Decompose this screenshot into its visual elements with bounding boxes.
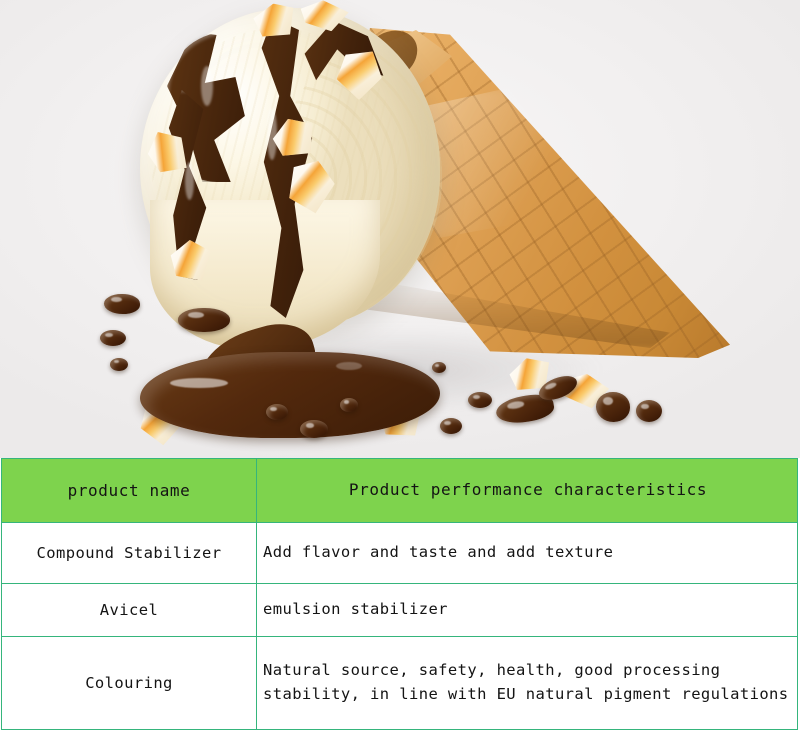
table-body: Compound Stabilizer Add flavor and taste… (2, 523, 798, 730)
table-row: Colouring Natural source, safety, health… (2, 637, 798, 730)
table-head: product name Product performance charact… (2, 459, 798, 523)
table-row: Compound Stabilizer Add flavor and taste… (2, 523, 798, 584)
chocolate-puddle (140, 352, 440, 438)
page-root: product name Product performance charact… (0, 0, 800, 737)
cell-product-name: Colouring (2, 637, 257, 730)
cell-characteristics: Add flavor and taste and add texture (257, 523, 798, 584)
puddle-highlight (336, 362, 362, 370)
chocolate-droplet (110, 358, 128, 371)
specification-table-container: product name Product performance charact… (0, 458, 800, 737)
chocolate-droplet (432, 362, 446, 373)
specification-table: product name Product performance charact… (1, 458, 798, 730)
chocolate-droplet (178, 308, 230, 332)
puddle-highlight (170, 378, 228, 388)
cell-product-name: Avicel (2, 584, 257, 637)
chocolate-droplet (440, 418, 462, 434)
cell-characteristics: emulsion stabilizer (257, 584, 798, 637)
drizzle-highlight (267, 108, 277, 160)
cell-characteristics: Natural source, safety, health, good pro… (257, 637, 798, 730)
product-photo (0, 0, 800, 458)
cell-product-name: Compound Stabilizer (2, 523, 257, 584)
table-header-row: product name Product performance charact… (2, 459, 798, 523)
chocolate-droplet (340, 398, 358, 412)
chocolate-droplet (468, 392, 492, 408)
chocolate-droplet (636, 400, 662, 422)
chocolate-droplet (100, 330, 126, 346)
chocolate-droplet (266, 404, 288, 420)
chocolate-droplet (596, 392, 630, 422)
chocolate-droplet (104, 294, 140, 314)
table-row: Avicel emulsion stabilizer (2, 584, 798, 637)
chocolate-droplet (300, 420, 328, 438)
header-characteristics: Product performance characteristics (257, 459, 798, 523)
drizzle-highlight (201, 66, 213, 106)
header-product-name: product name (2, 459, 257, 523)
